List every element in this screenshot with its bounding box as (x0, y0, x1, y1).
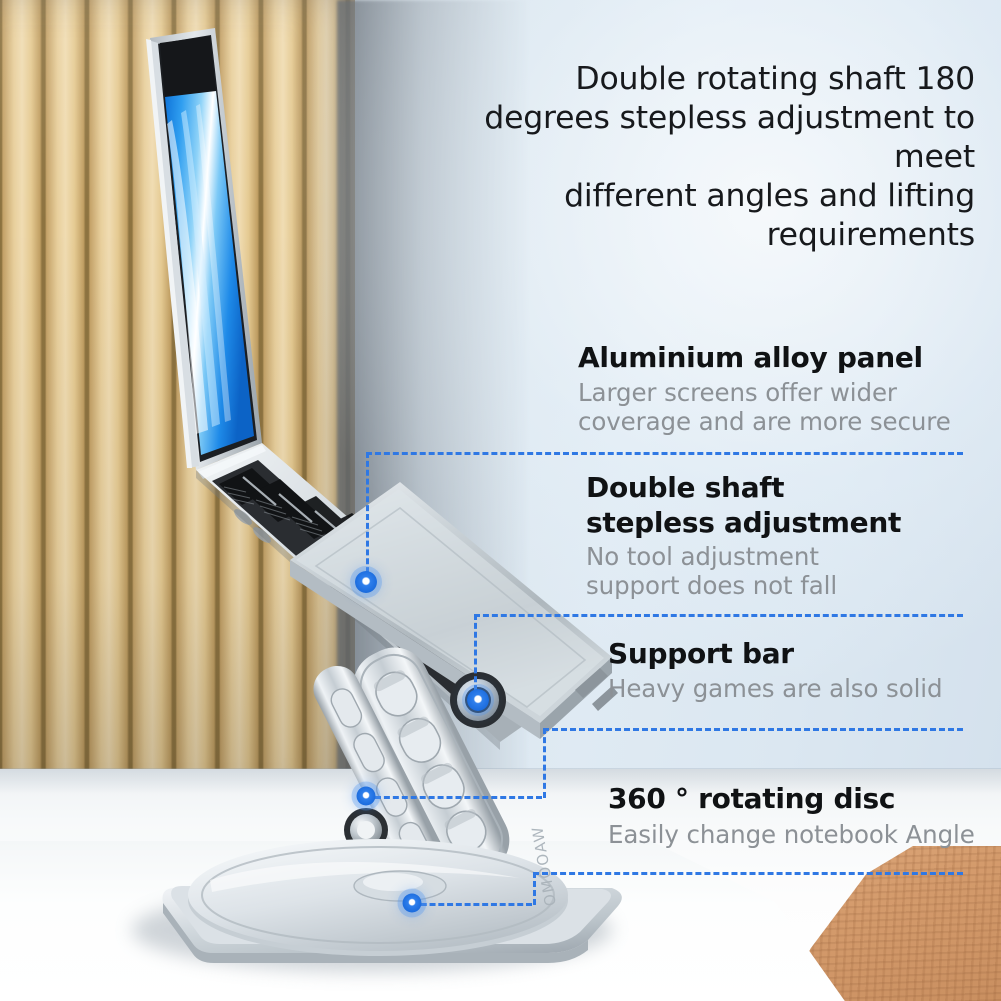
feature-aluminium-alloy-panel: Aluminium alloy panel Larger screens off… (578, 341, 978, 436)
feature-title: Aluminium alloy panel (578, 341, 978, 375)
callout-dot-double-shaft[interactable] (467, 689, 489, 711)
callout-dot-aluminium-panel[interactable] (355, 571, 377, 593)
connector-horizontal-3a (366, 796, 542, 799)
connector-horizontal-4a (412, 903, 532, 906)
feature-title: Support bar (608, 637, 998, 671)
headline-line-1: Double rotating shaft 180 (395, 60, 975, 99)
connector-vertical-2 (474, 614, 477, 700)
feature-subtitle-line: Larger screens offer wider (578, 379, 978, 408)
feature-title: 360 ° rotating disc (608, 782, 1001, 816)
feature-subtitle-line: support does not fall (586, 572, 986, 601)
feature-rotating-disc: 360 ° rotating disc Easily change notebo… (608, 782, 1001, 849)
callout-dot-rotating-disc[interactable] (403, 894, 422, 913)
connector-vertical-1 (366, 452, 369, 582)
headline: Double rotating shaft 180 degrees steple… (395, 60, 975, 255)
feature-subtitle: Larger screens offer wider coverage and … (578, 379, 978, 436)
callout-dot-support-bar[interactable] (357, 787, 376, 806)
feature-title-line: stepless adjustment (586, 505, 986, 540)
connector-vertical-4 (533, 872, 536, 905)
connector-horizontal-1 (366, 452, 963, 455)
connector-horizontal-3b (543, 728, 963, 731)
feature-subtitle: No tool adjustment support does not fall (586, 543, 986, 600)
feature-subtitle: Heavy games are also solid (608, 674, 998, 703)
feature-subtitle-line: coverage and are more secure (578, 408, 978, 437)
feature-subtitle-line: No tool adjustment (586, 543, 986, 572)
connector-vertical-3 (543, 728, 546, 798)
connector-horizontal-2 (474, 614, 963, 617)
feature-title: Double shaft stepless adjustment (586, 470, 986, 540)
infographic-canvas: OMOOAW Double rotating shaft 180 degrees… (0, 0, 1001, 1001)
headline-line-2: degrees stepless adjustment to meet (395, 99, 975, 177)
feature-support-bar: Support bar Heavy games are also solid (608, 637, 998, 703)
feature-subtitle: Easily change notebook Angle (608, 820, 1001, 849)
feature-double-shaft-stepless-adjustment: Double shaft stepless adjustment No tool… (586, 470, 986, 600)
feature-title-line: Double shaft (586, 470, 986, 505)
connector-horizontal-4b (533, 872, 963, 875)
headline-line-3: different angles and lifting requirement… (395, 177, 975, 255)
